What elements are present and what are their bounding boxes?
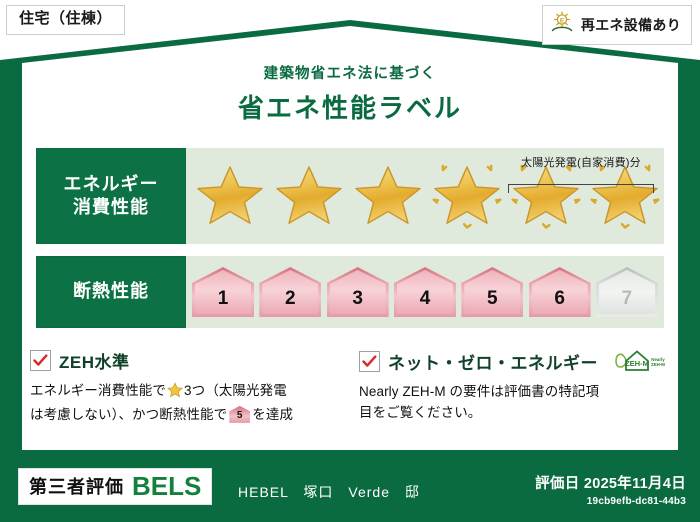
bels-certification-mark: 第三者評価 BELS xyxy=(18,468,212,505)
insulation-performance-row: 断熱性能 1234567 xyxy=(36,256,664,328)
net-zero-text-line2: 目をご覧ください。 xyxy=(359,405,481,420)
insulation-grade-number: 6 xyxy=(554,288,565,310)
net-zero-energy-checkbox xyxy=(359,351,380,372)
evaluation-date-value: 2025年11月4日 xyxy=(584,476,686,492)
bels-jp-label: 第三者評価 xyxy=(29,473,124,499)
insulation-grade-5: 5 xyxy=(461,267,523,317)
bels-en-label: BELS xyxy=(132,473,201,499)
zeh-standard-description: エネルギー消費性能で3つ（太陽光発電は考慮しない）、かつ断熱性能で5を達成 xyxy=(30,381,341,426)
insulation-grade-2: 2 xyxy=(259,267,321,317)
star-2 xyxy=(269,148,348,244)
title-main: 省エネ性能ラベル xyxy=(0,88,700,125)
insulation-grade-1: 1 xyxy=(192,267,254,317)
building-type-label: 住宅（住棟） xyxy=(19,10,112,27)
insulation-grade-number: 3 xyxy=(352,288,363,310)
evaluation-date: 評価日 2025年11月4日 xyxy=(535,472,686,493)
energy-stars-area: 太陽光発電(自家消費)分 xyxy=(186,148,664,244)
insulation-grade-4: 4 xyxy=(394,267,456,317)
solar-portion-bracket-label: 太陽光発電(自家消費)分 xyxy=(508,154,654,170)
title-subtitle: 建築物省エネ法に基づく xyxy=(0,62,700,83)
renewable-energy-label: 再エネ設備あり xyxy=(581,15,681,35)
evaluation-id: 19cb9efb-dc81-44b3 xyxy=(535,496,686,507)
energy-label-line2: 消費性能 xyxy=(73,196,149,219)
inline-house-value: 5 xyxy=(229,406,250,423)
inline-star-icon xyxy=(167,382,183,405)
zeh-text-part2: 3つ（太陽光発電 xyxy=(184,383,287,398)
insulation-grade-7: 7 xyxy=(596,267,658,317)
bels-energy-label: 住宅（住棟） E 再エネ設備あり 建築物省エネ法に基づく 省エネ性能ラベル エネ… xyxy=(0,0,700,522)
zeh-text-part3: は考慮しない）、かつ断熱性能で xyxy=(30,407,227,422)
net-zero-energy-description: Nearly ZEH-M の要件は評価書の特記項目をご覧ください。 xyxy=(359,382,670,424)
net-zero-text-line1: Nearly ZEH-M の要件は評価書の特記項 xyxy=(359,384,599,399)
insulation-performance-label: 断熱性能 xyxy=(36,256,186,328)
svg-text:E: E xyxy=(560,17,565,24)
insulation-grade-number: 4 xyxy=(420,288,431,310)
star-4 xyxy=(427,148,506,244)
energy-label-line1: エネルギー xyxy=(64,173,159,196)
energy-performance-row: エネルギー 消費性能 太陽光発電(自家消費)分 xyxy=(36,148,664,244)
insulation-grade-3: 3 xyxy=(327,267,389,317)
star-1 xyxy=(190,148,269,244)
renewable-energy-badge: E 再エネ設備あり xyxy=(542,5,692,45)
zeh-text-part4: を達成 xyxy=(252,407,293,422)
insulation-grade-number: 5 xyxy=(487,288,498,310)
evaluation-date-label: 評価日 xyxy=(535,476,579,492)
net-zero-energy-header: ネット・ゼロ・エネルギー ZEH-M Nearly ZEH-M xyxy=(359,348,670,374)
criteria-section: ZEH水準 エネルギー消費性能で3つ（太陽光発電は考慮しない）、かつ断熱性能で5… xyxy=(30,348,670,426)
insulation-grade-number: 2 xyxy=(285,288,296,310)
criteria-net-zero-energy: ネット・ゼロ・エネルギー ZEH-M Nearly ZEH-M Nearly Z… xyxy=(359,348,670,426)
label-title-block: 建築物省エネ法に基づく 省エネ性能ラベル xyxy=(0,62,700,125)
insulation-grade-6: 6 xyxy=(529,267,591,317)
evaluation-info: 評価日 2025年11月4日 19cb9efb-dc81-44b3 xyxy=(535,472,686,507)
svg-text:ZEH-M: ZEH-M xyxy=(625,359,649,368)
insulation-grade-number: 1 xyxy=(218,288,229,310)
building-name: HEBEL 塚口 Verde 邸 xyxy=(238,482,420,502)
zeh-standard-title: ZEH水準 xyxy=(59,348,130,373)
insulation-label-text: 断熱性能 xyxy=(73,280,149,303)
svg-text:ZEH-M: ZEH-M xyxy=(651,362,665,367)
label-footer: 第三者評価 BELS HEBEL 塚口 Verde 邸 評価日 2025年11月… xyxy=(0,460,700,522)
zeh-m-logo: ZEH-M Nearly ZEH-M xyxy=(612,348,668,374)
zeh-standard-header: ZEH水準 xyxy=(30,348,341,373)
inline-house-icon: 5 xyxy=(229,406,250,423)
star-3 xyxy=(348,148,427,244)
net-zero-energy-title: ネット・ゼロ・エネルギー xyxy=(388,349,598,374)
zeh-standard-checkbox xyxy=(30,350,51,371)
insulation-grade-scale: 1234567 xyxy=(192,267,658,317)
insulation-grades-area: 1234567 xyxy=(186,256,664,328)
solar-sun-icon: E xyxy=(549,10,575,39)
energy-performance-label: エネルギー 消費性能 xyxy=(36,148,186,244)
criteria-zeh-standard: ZEH水準 エネルギー消費性能で3つ（太陽光発電は考慮しない）、かつ断熱性能で5… xyxy=(30,348,341,426)
insulation-grade-number: 7 xyxy=(622,288,633,310)
building-type-tag: 住宅（住棟） xyxy=(6,5,125,35)
zeh-text-part1: エネルギー消費性能で xyxy=(30,383,166,398)
